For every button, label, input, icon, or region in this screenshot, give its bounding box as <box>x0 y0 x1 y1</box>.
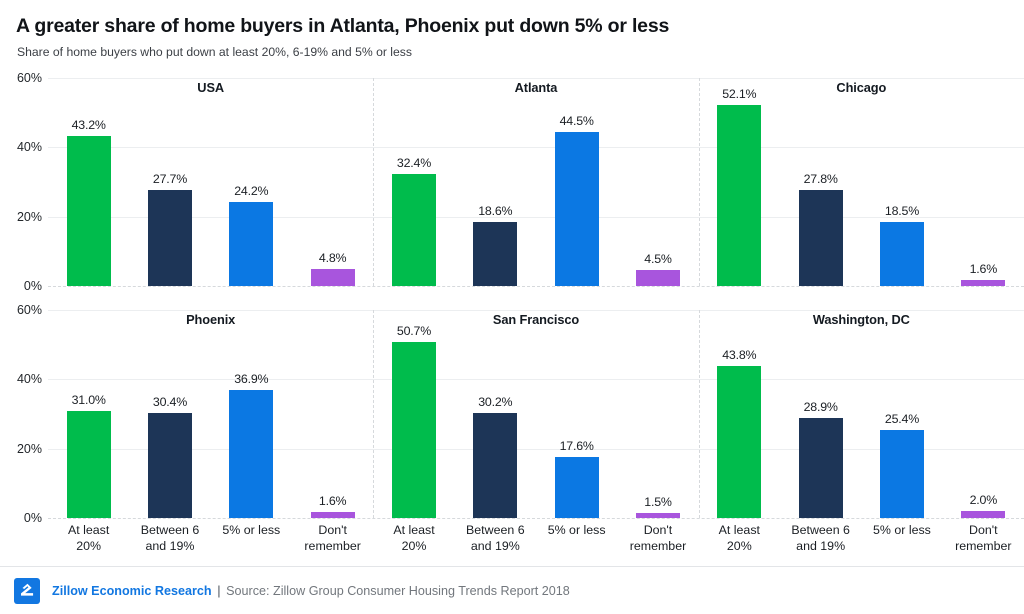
bar[interactable] <box>555 132 599 286</box>
bar-value-label: 43.2% <box>72 118 106 132</box>
bar-slot: 43.8%At least 20% <box>699 310 780 518</box>
bar-slot: 27.7% <box>129 78 210 286</box>
bar[interactable] <box>473 222 517 286</box>
bar-group: 52.1%27.8%18.5%1.6% <box>699 78 1024 286</box>
bar-slot: 2.0%Don't remember <box>943 310 1024 518</box>
chart-panel-phoenix: Phoenix31.0%At least 20%30.4%Between 6 a… <box>48 310 373 518</box>
bar[interactable] <box>473 413 517 518</box>
footer-separator: | <box>217 584 221 598</box>
bar-value-label: 24.2% <box>234 184 268 198</box>
bar-slot: 18.6% <box>455 78 536 286</box>
bar[interactable] <box>961 511 1005 518</box>
bar-group: 31.0%At least 20%30.4%Between 6 and 19%3… <box>48 310 373 518</box>
bar-value-label: 28.9% <box>804 400 838 414</box>
chart-panel-san-francisco: San Francisco50.7%At least 20%30.2%Betwe… <box>373 310 698 518</box>
bar-slot: 17.6%5% or less <box>536 310 617 518</box>
bar-value-label: 27.7% <box>153 172 187 186</box>
bar-slot: 24.2% <box>211 78 292 286</box>
bar[interactable] <box>148 413 192 518</box>
bar[interactable] <box>148 190 192 286</box>
bar-value-label: 25.4% <box>885 412 919 426</box>
bar[interactable] <box>67 411 111 518</box>
bar[interactable] <box>961 280 1005 286</box>
bar-slot: 4.8% <box>292 78 373 286</box>
bar-group: 32.4%18.6%44.5%4.5% <box>373 78 698 286</box>
page-subtitle: Share of home buyers who put down at lea… <box>17 44 1008 60</box>
panel-row: 0%20%40%60%USA43.2%27.7%24.2%4.8%Atlanta… <box>0 78 1024 310</box>
bar-value-label: 4.5% <box>644 252 671 266</box>
footer-source: Source: Zillow Group Consumer Housing Tr… <box>226 584 570 598</box>
plot-band: USA43.2%27.7%24.2%4.8%Atlanta32.4%18.6%4… <box>48 78 1024 286</box>
bar-value-label: 1.6% <box>319 494 346 508</box>
bar-slot: 31.0%At least 20% <box>48 310 129 518</box>
bar[interactable] <box>636 513 680 518</box>
bar[interactable] <box>799 190 843 286</box>
bar-slot: 50.7%At least 20% <box>373 310 454 518</box>
bar-slot: 52.1% <box>699 78 780 286</box>
small-multiples-grid: 0%20%40%60%USA43.2%27.7%24.2%4.8%Atlanta… <box>0 78 1024 563</box>
bar-slot: 30.2%Between 6 and 19% <box>455 310 536 518</box>
bar-slot: 44.5% <box>536 78 617 286</box>
y-axis-tick-label: 40% <box>17 140 42 154</box>
plot-band: Phoenix31.0%At least 20%30.4%Between 6 a… <box>48 310 1024 518</box>
bar-value-label: 50.7% <box>397 324 431 338</box>
y-axis-tick-label: 20% <box>17 442 42 456</box>
bar-value-label: 18.5% <box>885 204 919 218</box>
footer-text: Zillow Economic Research | Source: Zillo… <box>52 584 570 598</box>
bar-value-label: 1.6% <box>970 262 997 276</box>
bar-value-label: 52.1% <box>722 87 756 101</box>
chart-panel-usa: USA43.2%27.7%24.2%4.8% <box>48 78 373 286</box>
bar-group: 43.8%At least 20%28.9%Between 6 and 19%2… <box>699 310 1024 518</box>
bar[interactable] <box>67 136 111 286</box>
y-axis-tick-label: 60% <box>17 71 42 85</box>
y-axis-tick-label: 20% <box>17 210 42 224</box>
chart-panel-washington-dc: Washington, DC43.8%At least 20%28.9%Betw… <box>699 310 1024 518</box>
zillow-z-logo-icon <box>14 578 40 604</box>
bar-slot: 43.2% <box>48 78 129 286</box>
axis-baseline <box>48 518 1024 519</box>
bar-slot: 25.4%5% or less <box>861 310 942 518</box>
x-axis-tick-label: Don't remember <box>927 522 1024 554</box>
bar-value-label: 31.0% <box>72 393 106 407</box>
bar-group: 50.7%At least 20%30.2%Between 6 and 19%1… <box>373 310 698 518</box>
chart-page: A greater share of home buyers in Atlant… <box>0 0 1024 614</box>
chart-header: A greater share of home buyers in Atlant… <box>0 0 1024 72</box>
footer-brand: Zillow Economic Research <box>52 584 212 598</box>
bar[interactable] <box>311 512 355 518</box>
bar-slot: 30.4%Between 6 and 19% <box>129 310 210 518</box>
y-axis-tick-label: 0% <box>24 279 42 293</box>
bar-slot: 4.5% <box>617 78 698 286</box>
y-axis-tick-label: 60% <box>17 303 42 317</box>
bar-value-label: 27.8% <box>804 172 838 186</box>
bar[interactable] <box>555 457 599 518</box>
chart-panel-chicago: Chicago52.1%27.8%18.5%1.6% <box>699 78 1024 286</box>
bar-group: 43.2%27.7%24.2%4.8% <box>48 78 373 286</box>
bar[interactable] <box>311 269 355 286</box>
bar[interactable] <box>880 222 924 286</box>
chart-panel-atlanta: Atlanta32.4%18.6%44.5%4.5% <box>373 78 698 286</box>
chart-footer: Zillow Economic Research | Source: Zillo… <box>0 566 1024 614</box>
bar-slot: 1.5%Don't remember <box>617 310 698 518</box>
bar-slot: 1.6%Don't remember <box>292 310 373 518</box>
bar[interactable] <box>392 342 436 518</box>
bar-slot: 28.9%Between 6 and 19% <box>780 310 861 518</box>
bar-value-label: 36.9% <box>234 372 268 386</box>
bar-value-label: 4.8% <box>319 251 346 265</box>
bar-slot: 32.4% <box>373 78 454 286</box>
bar-value-label: 32.4% <box>397 156 431 170</box>
page-title: A greater share of home buyers in Atlant… <box>16 14 1008 38</box>
bar-value-label: 1.5% <box>644 495 671 509</box>
bar-value-label: 17.6% <box>560 439 594 453</box>
y-axis-tick-label: 40% <box>17 372 42 386</box>
bar-value-label: 44.5% <box>560 114 594 128</box>
bar[interactable] <box>229 202 273 286</box>
bar-slot: 1.6% <box>943 78 1024 286</box>
bar-value-label: 43.8% <box>722 348 756 362</box>
bar[interactable] <box>229 390 273 518</box>
y-axis: 0%20%40%60% <box>0 78 48 286</box>
bar-slot: 27.8% <box>780 78 861 286</box>
bar-slot: 36.9%5% or less <box>211 310 292 518</box>
bar[interactable] <box>799 418 843 518</box>
bar-value-label: 18.6% <box>478 204 512 218</box>
bar[interactable] <box>392 174 436 286</box>
bar-value-label: 30.4% <box>153 395 187 409</box>
bar-value-label: 30.2% <box>478 395 512 409</box>
bar-slot: 18.5% <box>861 78 942 286</box>
bar[interactable] <box>880 430 924 518</box>
bar-value-label: 2.0% <box>970 493 997 507</box>
bar[interactable] <box>636 270 680 286</box>
axis-baseline <box>48 286 1024 287</box>
bar[interactable] <box>717 366 761 518</box>
bar[interactable] <box>717 105 761 286</box>
panel-row: 0%20%40%60%Phoenix31.0%At least 20%30.4%… <box>0 310 1024 563</box>
y-axis: 0%20%40%60% <box>0 310 48 518</box>
